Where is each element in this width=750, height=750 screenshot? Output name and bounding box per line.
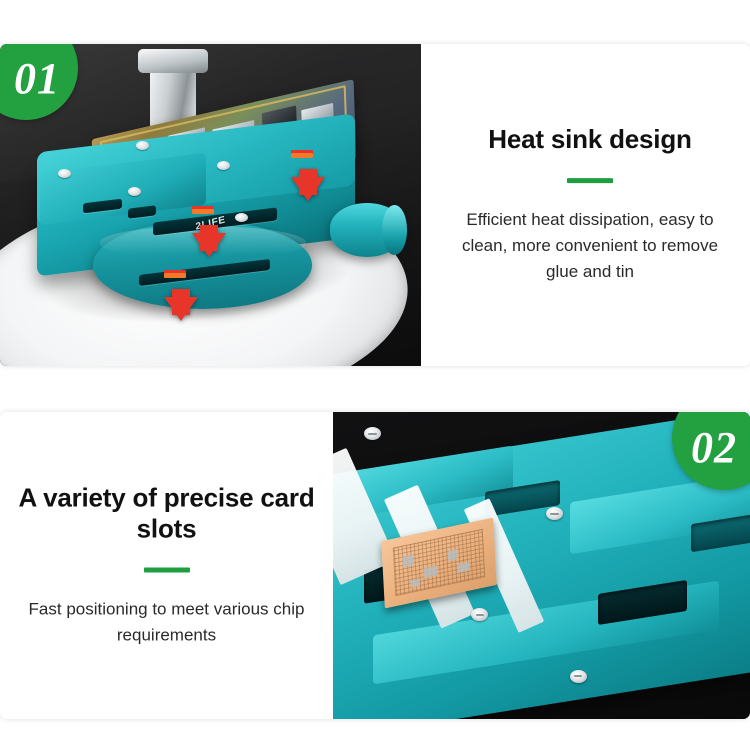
- product-photo-1: 2LIFE 911 01: [0, 44, 421, 366]
- annotation-arrow-down: [164, 297, 198, 321]
- fixture-screw: [58, 169, 71, 178]
- feature-title: A variety of precise card slots: [18, 482, 315, 545]
- arrow-highlight-cap: [164, 273, 186, 278]
- arrow-highlight-cap: [192, 209, 214, 214]
- fixture-screw: [364, 427, 381, 440]
- fixture-screw: [235, 213, 248, 222]
- feature-text-2: A variety of precise card slots Fast pos…: [0, 412, 333, 719]
- tightening-knob: [330, 203, 404, 257]
- bga-pad: [410, 577, 419, 587]
- annotation-arrow-down: [291, 177, 325, 201]
- fixture-screw: [570, 670, 587, 683]
- annotation-arrow-down: [192, 233, 226, 257]
- feature-page: 2LIFE 911 01 Heat sink design Efficient …: [0, 0, 750, 750]
- product-photo-2: 02: [333, 412, 750, 719]
- feature-title: Heat sink design: [448, 124, 732, 156]
- bga-pad: [402, 554, 414, 567]
- feature-panel-2: A variety of precise card slots Fast pos…: [0, 412, 750, 719]
- feature-panel-1: 2LIFE 911 01 Heat sink design Efficient …: [0, 44, 750, 366]
- arrow-highlight-cap: [291, 153, 313, 158]
- feature-description: Efficient heat dissipation, easy to clea…: [448, 207, 732, 286]
- feature-text-1: Heat sink design Efficient heat dissipat…: [430, 44, 750, 366]
- step-number: 01: [14, 53, 60, 104]
- pcb-holder-fixture: 2LIFE 911: [29, 121, 383, 321]
- bga-pad: [447, 549, 458, 560]
- step-number: 02: [691, 422, 737, 473]
- title-divider: [567, 178, 613, 183]
- feature-description: Fast positioning to meet various chip re…: [18, 596, 315, 649]
- fixture-screw: [136, 141, 149, 150]
- title-divider: [144, 567, 190, 572]
